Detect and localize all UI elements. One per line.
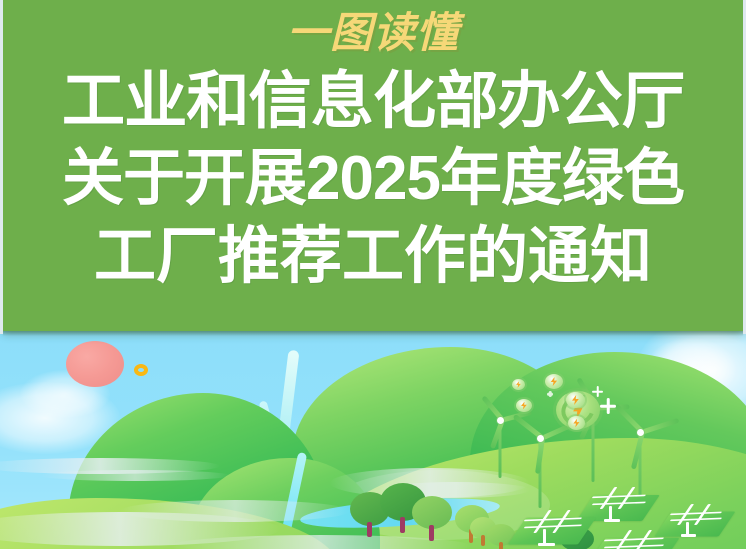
balloon-icon [66,341,124,387]
infographic-poster: 一图读懂 工业和信息化部办公厅 关于开展2025年度绿色 工厂推荐工作的通知 [0,0,746,549]
sparkle-icon [600,398,616,414]
eco-bubble-icon [545,374,563,389]
banner-shadow [3,331,743,336]
eco-bubble-icon [568,416,585,430]
title-line-1: 工业和信息化部办公厅 [62,64,684,140]
sparkle-icon [592,386,603,397]
eco-bubble-icon [566,392,585,408]
ring-icon [134,364,148,376]
sparkle-icon [547,391,553,397]
mist-band [120,500,350,522]
left-edge-strip [0,0,3,334]
eco-bubble-icon [516,399,532,412]
tree-icon [487,524,515,549]
title-line-2: 关于开展2025年度绿色 [62,140,684,218]
tree-icon [412,496,452,542]
eyebrow-label: 一图读懂 [287,12,459,54]
title-line-3: 工厂推荐工作的通知 [94,218,652,296]
mist-band [40,470,230,481]
title-banner: 一图读懂 工业和信息化部办公厅 关于开展2025年度绿色 工厂推荐工作的通知 [3,0,743,331]
eco-bubble-icon [512,379,525,390]
